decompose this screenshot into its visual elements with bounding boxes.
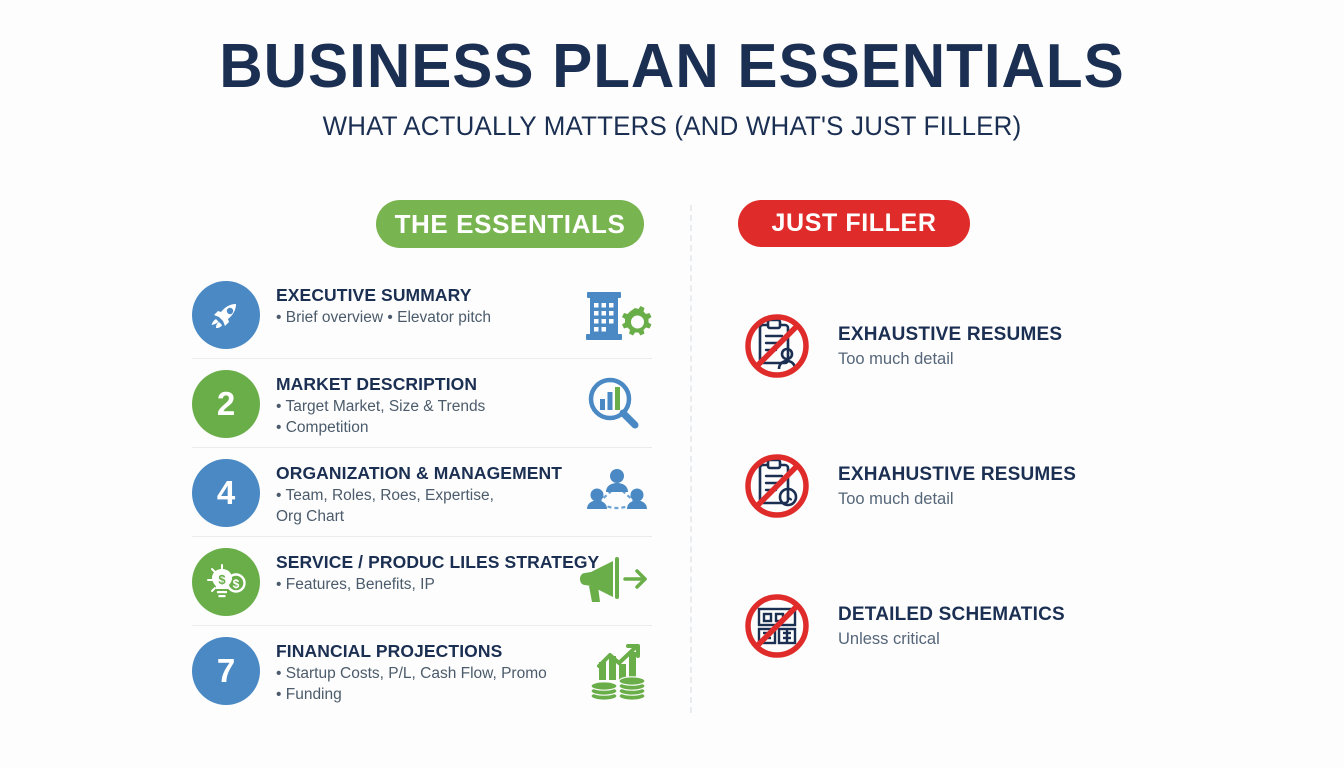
svg-text:$: $ <box>233 577 240 591</box>
list-item-title: MARKET DESCRIPTION <box>276 374 576 394</box>
no-schematic-icon <box>738 587 816 665</box>
list-item[interactable]: 7 FINANCIAL PROJECTIONS • Startup Costs,… <box>192 626 652 714</box>
building-gear-icon <box>577 284 657 346</box>
filler-pill[interactable]: JUST FILLER <box>738 200 970 247</box>
content-columns: THE ESSENTIALS EXECUTIVE SUMMARY • Brief… <box>0 200 1344 719</box>
megaphone-arrow-icon <box>577 551 657 613</box>
essentials-pill[interactable]: THE ESSENTIALS <box>376 200 644 248</box>
list-item-text: EXECUTIVE SUMMARY • Brief overview • Ele… <box>276 279 576 329</box>
essentials-column: THE ESSENTIALS EXECUTIVE SUMMARY • Brief… <box>0 200 690 719</box>
list-item[interactable]: 4 ORGANIZATION & MANAGEMENT • Team, Role… <box>192 448 652 537</box>
number-badge: 2 <box>192 370 260 438</box>
list-item-bullets: • Startup Costs, P/L, Cash Flow, Promo •… <box>276 664 576 705</box>
list-item[interactable]: EXECUTIVE SUMMARY • Brief overview • Ele… <box>192 270 652 359</box>
list-item[interactable]: $ $ SERVICE / PRODUC LILES STRATEGY • Fe… <box>192 537 652 626</box>
list-item-text: FINANCIAL PROJECTIONS • Startup Costs, P… <box>276 635 576 705</box>
rocket-icon <box>192 281 260 349</box>
list-item-bullets: • Target Market, Size & Trends • Competi… <box>276 397 576 438</box>
filler-column: JUST FILLER <box>690 200 1344 719</box>
list-item[interactable]: EXHAHUSTIVE RESUMES Too much detail <box>738 439 1344 533</box>
list-item-title: FINANCIAL PROJECTIONS <box>276 641 576 661</box>
list-item-text: MARKET DESCRIPTION • Target Market, Size… <box>276 368 576 438</box>
list-item-title: EXHAUSTIVE RESUMES <box>838 324 1062 346</box>
growth-coins-icon <box>577 640 657 702</box>
page-title: BUSINESS PLAN ESSENTIALS <box>20 34 1324 99</box>
list-item-subtitle: Too much detail <box>838 350 1062 369</box>
essentials-list: EXECUTIVE SUMMARY • Brief overview • Ele… <box>0 270 690 714</box>
list-item-text: EXHAHUSTIVE RESUMES Too much detail <box>838 464 1076 509</box>
list-item-subtitle: Too much detail <box>838 490 1076 509</box>
list-item-bullets: • Features, Benefits, IP <box>276 575 576 595</box>
list-item-title: EXECUTIVE SUMMARY <box>276 285 576 305</box>
magnifier-chart-icon <box>577 373 657 435</box>
list-item-bullets: • Brief overview • Elevator pitch <box>276 308 576 328</box>
list-item-title: EXHAHUSTIVE RESUMES <box>838 464 1076 486</box>
no-clipboard-person-icon <box>738 307 816 385</box>
list-item-title: DETAILED SCHEMATICS <box>838 604 1065 626</box>
list-item[interactable]: 2 MARKET DESCRIPTION • Target Market, Si… <box>192 359 652 448</box>
list-item-title: SERVICE / PRODUC LILES STRATEGY <box>276 552 576 572</box>
team-network-icon <box>577 462 657 524</box>
svg-text:$: $ <box>218 572 226 587</box>
list-item-subtitle: Unless critical <box>838 630 1065 649</box>
list-item-text: EXHAUSTIVE RESUMES Too much detail <box>838 324 1062 369</box>
number-badge: 4 <box>192 459 260 527</box>
number-badge: 7 <box>192 637 260 705</box>
no-clipboard-clock-icon <box>738 447 816 525</box>
page-subtitle: WHAT ACTUALLY MATTERS (AND WHAT'S JUST F… <box>27 111 1317 142</box>
list-item-text: DETAILED SCHEMATICS Unless critical <box>838 604 1065 649</box>
list-item-bullets: • Team, Roles, Roes, Expertise, Org Char… <box>276 486 576 527</box>
list-item-text: SERVICE / PRODUC LILES STRATEGY • Featur… <box>276 546 576 596</box>
list-item-text: ORGANIZATION & MANAGEMENT • Team, Roles,… <box>276 457 576 527</box>
header: BUSINESS PLAN ESSENTIALS WHAT ACTUALLY M… <box>0 0 1344 142</box>
lightbulb-dollar-icon: $ $ <box>192 548 260 616</box>
list-item[interactable]: DETAILED SCHEMATICS Unless critical <box>738 579 1344 673</box>
filler-list: EXHAUSTIVE RESUMES Too much detail <box>690 299 1344 673</box>
list-item-title: ORGANIZATION & MANAGEMENT <box>276 463 576 483</box>
list-item[interactable]: EXHAUSTIVE RESUMES Too much detail <box>738 299 1344 393</box>
